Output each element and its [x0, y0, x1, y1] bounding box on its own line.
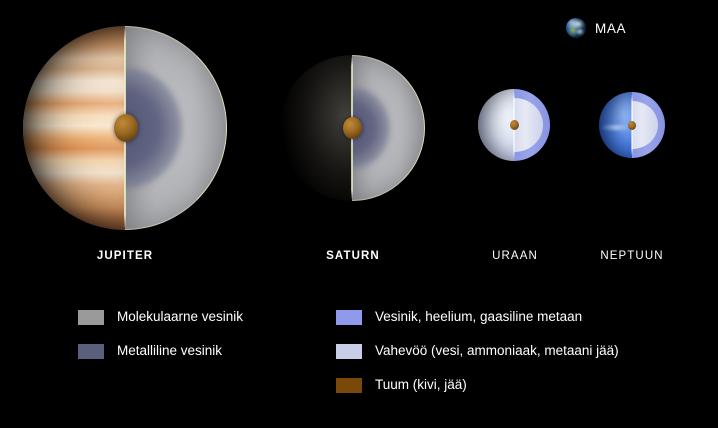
legend-item: Molekulaarne vesinik — [78, 300, 243, 334]
legend-label-molecular-hydrogen: Molekulaarne vesinik — [117, 310, 243, 324]
neptune-core — [628, 121, 636, 130]
saturn-cutaway-rim — [352, 55, 425, 201]
legend-label-core: Tuum (kivi, jää) — [375, 378, 467, 392]
earth-globe-icon — [566, 18, 586, 38]
jupiter-atmosphere-surface — [23, 26, 125, 230]
legend-column-left: Molekulaarne vesinik Metalliline vesinik — [78, 300, 243, 368]
planet-label-saturn: SATURN — [326, 250, 380, 262]
jupiter-limb-shading — [23, 26, 125, 230]
planet-neptune[interactable] — [599, 92, 665, 158]
legend-swatch-hydrogen-helium-methane — [336, 310, 362, 325]
legend-swatch-metallic-hydrogen — [78, 344, 104, 359]
planet-label-neptune: NEPTUUN — [600, 250, 663, 262]
legend-item: Vahevöö (vesi, ammoniaak, metaani jää) — [336, 334, 619, 368]
legend-swatch-core — [336, 378, 362, 393]
saturn-atmosphere-surface — [279, 55, 352, 201]
jupiter-cutaway-rim — [125, 26, 227, 230]
planet-uranus[interactable] — [478, 89, 550, 161]
saturn-limb-shading — [279, 55, 352, 201]
legend-swatch-molecular-hydrogen — [78, 310, 104, 325]
legend-swatch-mantle — [336, 344, 362, 359]
uranus-core — [510, 120, 519, 130]
planet-label-jupiter: JUPITER — [97, 250, 153, 262]
legend-column-right: Vesinik, heelium, gaasiline metaan Vahev… — [336, 300, 619, 402]
planet-label-uranus: URAAN — [492, 250, 538, 262]
legend-item: Metalliline vesinik — [78, 334, 243, 368]
legend-item: Vesinik, heelium, gaasiline metaan — [336, 300, 619, 334]
planet-saturn[interactable] — [279, 55, 425, 201]
diagram-canvas: MAA JUPITER SATURN URAAN NEPTUUN Molekul… — [0, 0, 718, 428]
legend-label-mantle: Vahevöö (vesi, ammoniaak, metaani jää) — [375, 344, 619, 358]
earth-label: MAA — [595, 21, 626, 36]
legend-label-metallic-hydrogen: Metalliline vesinik — [117, 344, 222, 358]
jupiter-core — [114, 114, 138, 142]
uranus-limb-shading — [478, 89, 514, 161]
legend-label-hydrogen-helium-methane: Vesinik, heelium, gaasiline metaan — [375, 310, 582, 324]
uranus-atmosphere-surface — [478, 89, 514, 161]
planet-jupiter[interactable] — [23, 26, 227, 230]
earth-scale-reference[interactable]: MAA — [566, 18, 626, 38]
legend-item: Tuum (kivi, jää) — [336, 368, 619, 402]
saturn-core — [343, 117, 362, 139]
